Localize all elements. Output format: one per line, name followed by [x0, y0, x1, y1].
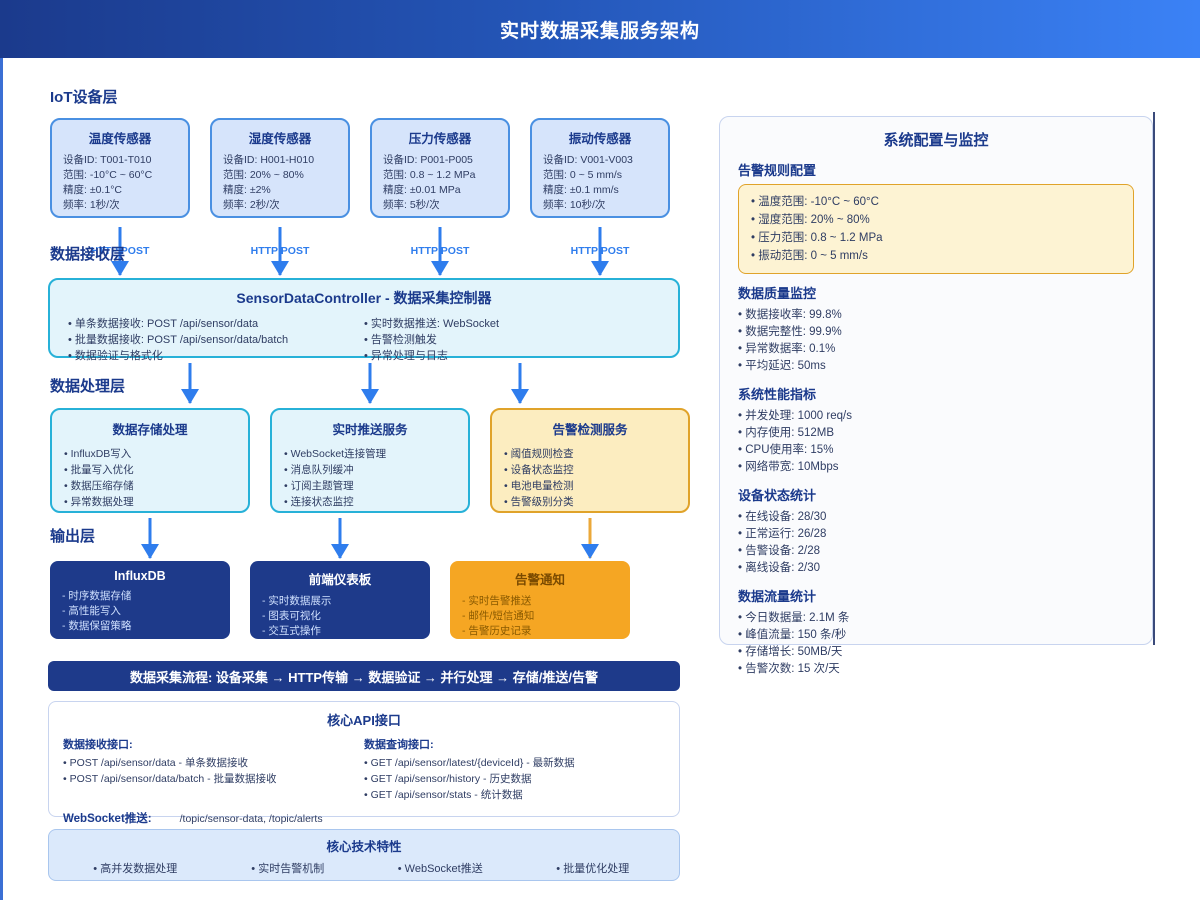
sensor-spec-frequency: 频率: 5秒/次: [383, 198, 497, 213]
stat-item: 告警次数: 15 次/天: [738, 661, 1134, 678]
api-receive-list: POST /api/sensor/data - 单条数据接收 POST /api…: [63, 755, 364, 787]
arrow-pressure-to-controller: [431, 227, 449, 275]
sensor-spec-frequency: 频率: 1秒/次: [63, 198, 177, 213]
sensor-data-controller-box[interactable]: SensorDataController - 数据采集控制器 单条数据接收: P…: [48, 278, 680, 358]
sensor-spec-accuracy: 精度: ±0.1 mm/s: [543, 183, 657, 198]
layer-label-output: 输出层: [50, 525, 95, 546]
output-card-dashboard[interactable]: 前端仪表板 实时数据展示 图表可视化 交互式操作: [250, 561, 430, 639]
controller-item: 批量数据接收: POST /api/sensor/data/batch: [68, 332, 364, 348]
sensor-card-humidity[interactable]: 湿度传感器 设备ID: H001-H010 范围: 20% ~ 80% 精度: …: [210, 118, 350, 218]
sensor-card-vibration[interactable]: 振动传感器 设备ID: V001-V003 范围: 0 ~ 5 mm/s 精度:…: [530, 118, 670, 218]
processing-card-storage[interactable]: 数据存储处理 InfluxDB写入 批量写入优化 数据压缩存储 异常数据处理: [50, 408, 250, 513]
arrow-humidity-to-controller: [271, 227, 289, 275]
stat-item: 数据接收率: 99.8%: [738, 307, 1134, 324]
output-list: 实时告警推送 邮件/短信通知 告警历史记录: [462, 594, 618, 639]
feature-item: 批量优化处理: [517, 860, 670, 876]
page-title: 实时数据采集服务架构: [500, 16, 700, 43]
left-edge-rail: [0, 58, 3, 900]
stat-item: 数据完整性: 99.9%: [738, 324, 1134, 341]
output-item: 邮件/短信通知: [462, 609, 618, 624]
controller-title: SensorDataController - 数据采集控制器: [68, 288, 660, 308]
system-config-monitor-panel: 系统配置与监控 告警规则配置 温度范围: -10°C ~ 60°C 湿度范围: …: [719, 116, 1153, 645]
processing-card-realtime-push[interactable]: 实时推送服务 WebSocket连接管理 消息队列缓冲 订阅主题管理 连接状态监…: [270, 408, 470, 513]
processing-item: 订阅主题管理: [284, 478, 456, 494]
output-item: 实时数据展示: [262, 594, 418, 609]
api-query-column: 数据查询接口: GET /api/sensor/latest/{deviceId…: [364, 736, 665, 803]
output-card-influxdb[interactable]: InfluxDB 时序数据存储 高性能写入 数据保留策略: [50, 561, 230, 639]
processing-item: 消息队列缓冲: [284, 462, 456, 478]
architecture-diagram-page: 实时数据采集服务架构 IoT设备层 数据接收层 数据处理层 输出层 温度传感器 …: [0, 0, 1200, 900]
api-endpoint: GET /api/sensor/stats - 统计数据: [364, 787, 665, 803]
stat-item: 在线设备: 28/30: [738, 509, 1134, 526]
right-edge-rail: [1153, 112, 1155, 645]
sensor-spec-id: 设备ID: T001-T010: [63, 153, 177, 168]
core-api-panel: 核心API接口 数据接收接口: POST /api/sensor/data - …: [48, 701, 680, 817]
api-endpoint: POST /api/sensor/data - 单条数据接收: [63, 755, 364, 771]
arrow-controller-to-storage: [181, 363, 199, 403]
processing-item: InfluxDB写入: [64, 446, 236, 462]
stat-item: 存储增长: 50MB/天: [738, 644, 1134, 661]
stat-item: 异常数据率: 0.1%: [738, 341, 1134, 358]
arrow-push-to-dashboard: [331, 518, 349, 558]
output-item: 数据保留策略: [62, 619, 218, 634]
api-endpoint: POST /api/sensor/data/batch - 批量数据接收: [63, 771, 364, 787]
output-item: 图表可视化: [262, 609, 418, 624]
api-endpoint: GET /api/sensor/history - 历史数据: [364, 771, 665, 787]
device-status-heading: 设备状态统计: [738, 485, 1134, 504]
feature-item: 高并发数据处理: [59, 860, 212, 876]
arrow-vibration-to-controller: [591, 227, 609, 275]
output-item: 时序数据存储: [62, 589, 218, 604]
controller-left-list: 单条数据接收: POST /api/sensor/data 批量数据接收: PO…: [68, 316, 364, 364]
api-receive-heading: 数据接收接口:: [63, 736, 364, 752]
stat-item: CPU使用率: 15%: [738, 442, 1134, 459]
processing-item: 批量写入优化: [64, 462, 236, 478]
features-title: 核心技术特性: [59, 836, 669, 855]
device-status-list: 在线设备: 28/30 正常运行: 26/28 告警设备: 2/28 离线设备:…: [738, 509, 1134, 577]
sensor-spec-frequency: 频率: 2秒/次: [223, 198, 337, 213]
output-item: 高性能写入: [62, 604, 218, 619]
processing-item: 异常数据处理: [64, 494, 236, 510]
stat-item: 并发处理: 1000 req/s: [738, 408, 1134, 425]
performance-heading: 系统性能指标: [738, 384, 1134, 403]
layer-label-device: IoT设备层: [50, 86, 118, 107]
arrow-alert-to-notification: [581, 518, 599, 558]
sidebar-title: 系统配置与监控: [738, 129, 1134, 150]
websocket-row: WebSocket推送: /topic/sensor-data, /topic/…: [63, 810, 665, 826]
sensor-spec-id: 设备ID: H001-H010: [223, 153, 337, 168]
data-flow-banner: 数据采集流程: 设备采集 → HTTP传输 → 数据验证 → 并行处理 → 存储…: [48, 661, 680, 691]
api-query-heading: 数据查询接口:: [364, 736, 665, 752]
stat-item: 平均延迟: 50ms: [738, 358, 1134, 375]
api-endpoint: GET /api/sensor/latest/{deviceId} - 最新数据: [364, 755, 665, 771]
sensor-title: 压力传感器: [383, 128, 497, 147]
feature-item: WebSocket推送: [364, 860, 517, 876]
processing-list: WebSocket连接管理 消息队列缓冲 订阅主题管理 连接状态监控: [284, 446, 456, 510]
layer-label-receive: 数据接收层: [50, 243, 125, 264]
sensor-spec-range: 范围: 20% ~ 80%: [223, 168, 337, 183]
processing-item: 数据压缩存储: [64, 478, 236, 494]
arrow-controller-to-push: [361, 363, 379, 403]
output-list: 实时数据展示 图表可视化 交互式操作: [262, 594, 418, 639]
processing-item: 连接状态监控: [284, 494, 456, 510]
sensor-spec-range: 范围: 0.8 ~ 1.2 MPa: [383, 168, 497, 183]
processing-title: 实时推送服务: [284, 419, 456, 438]
websocket-label: WebSocket推送:: [63, 810, 152, 826]
sensor-title: 振动传感器: [543, 128, 657, 147]
controller-item: 实时数据推送: WebSocket: [364, 316, 660, 332]
output-item: 告警历史记录: [462, 624, 618, 639]
api-receive-column: 数据接收接口: POST /api/sensor/data - 单条数据接收 P…: [63, 736, 364, 803]
api-panel-title: 核心API接口: [63, 710, 665, 729]
data-quality-list: 数据接收率: 99.8% 数据完整性: 99.9% 异常数据率: 0.1% 平均…: [738, 307, 1134, 375]
alert-rules-list: 温度范围: -10°C ~ 60°C 湿度范围: 20% ~ 80% 压力范围:…: [751, 193, 1121, 265]
stat-item: 离线设备: 2/30: [738, 560, 1134, 577]
output-item: 实时告警推送: [462, 594, 618, 609]
alert-rule-item: 压力范围: 0.8 ~ 1.2 MPa: [751, 229, 1121, 247]
processing-item: 阈值规则检查: [504, 446, 676, 462]
sensor-spec-range: 范围: -10°C ~ 60°C: [63, 168, 177, 183]
processing-item: 电池电量检测: [504, 478, 676, 494]
sensor-spec-id: 设备ID: P001-P005: [383, 153, 497, 168]
data-quality-heading: 数据质量监控: [738, 283, 1134, 302]
output-title: 前端仪表板: [262, 569, 418, 588]
processing-list: InfluxDB写入 批量写入优化 数据压缩存储 异常数据处理: [64, 446, 236, 510]
sensor-spec-accuracy: 精度: ±0.1°C: [63, 183, 177, 198]
sensor-spec-accuracy: 精度: ±0.01 MPa: [383, 183, 497, 198]
output-item: 交互式操作: [262, 624, 418, 639]
sensor-card-pressure[interactable]: 压力传感器 设备ID: P001-P005 范围: 0.8 ~ 1.2 MPa …: [370, 118, 510, 218]
sensor-title: 温度传感器: [63, 128, 177, 147]
processing-card-alert-detection[interactable]: 告警检测服务 阈值规则检查 设备状态监控 电池电量检测 告警级别分类: [490, 408, 690, 513]
alert-rule-item: 湿度范围: 20% ~ 80%: [751, 211, 1121, 229]
stat-item: 今日数据量: 2.1M 条: [738, 610, 1134, 627]
processing-title: 数据存储处理: [64, 419, 236, 438]
processing-title: 告警检测服务: [504, 419, 676, 438]
alert-rules-box: 温度范围: -10°C ~ 60°C 湿度范围: 20% ~ 80% 压力范围:…: [738, 184, 1134, 274]
processing-list: 阈值规则检查 设备状态监控 电池电量检测 告警级别分类: [504, 446, 676, 510]
alert-rules-heading: 告警规则配置: [738, 160, 1134, 179]
alert-rule-item: 振动范围: 0 ~ 5 mm/s: [751, 247, 1121, 265]
websocket-topics: /topic/sensor-data, /topic/alerts: [180, 813, 323, 825]
stat-item: 网络带宽: 10Mbps: [738, 459, 1134, 476]
stat-item: 内存使用: 512MB: [738, 425, 1134, 442]
processing-item: 告警级别分类: [504, 494, 676, 510]
arrow-controller-to-alert: [511, 363, 529, 403]
output-title: InfluxDB: [62, 569, 218, 583]
sensor-spec-range: 范围: 0 ~ 5 mm/s: [543, 168, 657, 183]
traffic-list: 今日数据量: 2.1M 条 峰值流量: 150 条/秒 存储增长: 50MB/天…: [738, 610, 1134, 678]
output-card-alert-notification[interactable]: 告警通知 实时告警推送 邮件/短信通知 告警历史记录: [450, 561, 630, 639]
controller-item: 异常处理与日志: [364, 348, 660, 364]
arrow-storage-to-influxdb: [141, 518, 159, 558]
stat-item: 峰值流量: 150 条/秒: [738, 627, 1134, 644]
output-list: 时序数据存储 高性能写入 数据保留策略: [62, 589, 218, 634]
page-header: 实时数据采集服务架构: [0, 0, 1200, 58]
api-query-list: GET /api/sensor/latest/{deviceId} - 最新数据…: [364, 755, 665, 803]
layer-label-process: 数据处理层: [50, 375, 125, 396]
sensor-title: 湿度传感器: [223, 128, 337, 147]
processing-item: WebSocket连接管理: [284, 446, 456, 462]
controller-item: 数据验证与格式化: [68, 348, 364, 364]
sensor-spec-id: 设备ID: V001-V003: [543, 153, 657, 168]
controller-item: 告警检测触发: [364, 332, 660, 348]
output-title: 告警通知: [462, 569, 618, 588]
feature-item: 实时告警机制: [212, 860, 365, 876]
stat-item: 告警设备: 2/28: [738, 543, 1134, 560]
controller-right-list: 实时数据推送: WebSocket 告警检测触发 异常处理与日志: [364, 316, 660, 364]
alert-rule-item: 温度范围: -10°C ~ 60°C: [751, 193, 1121, 211]
processing-item: 设备状态监控: [504, 462, 676, 478]
sensor-spec-accuracy: 精度: ±2%: [223, 183, 337, 198]
sensor-spec-frequency: 频率: 10秒/次: [543, 198, 657, 213]
sensor-card-temperature[interactable]: 温度传感器 设备ID: T001-T010 范围: -10°C ~ 60°C 精…: [50, 118, 190, 218]
performance-list: 并发处理: 1000 req/s 内存使用: 512MB CPU使用率: 15%…: [738, 408, 1134, 476]
controller-item: 单条数据接收: POST /api/sensor/data: [68, 316, 364, 332]
traffic-heading: 数据流量统计: [738, 586, 1134, 605]
stat-item: 正常运行: 26/28: [738, 526, 1134, 543]
core-features-panel: 核心技术特性 高并发数据处理 实时告警机制 WebSocket推送 批量优化处理: [48, 829, 680, 881]
